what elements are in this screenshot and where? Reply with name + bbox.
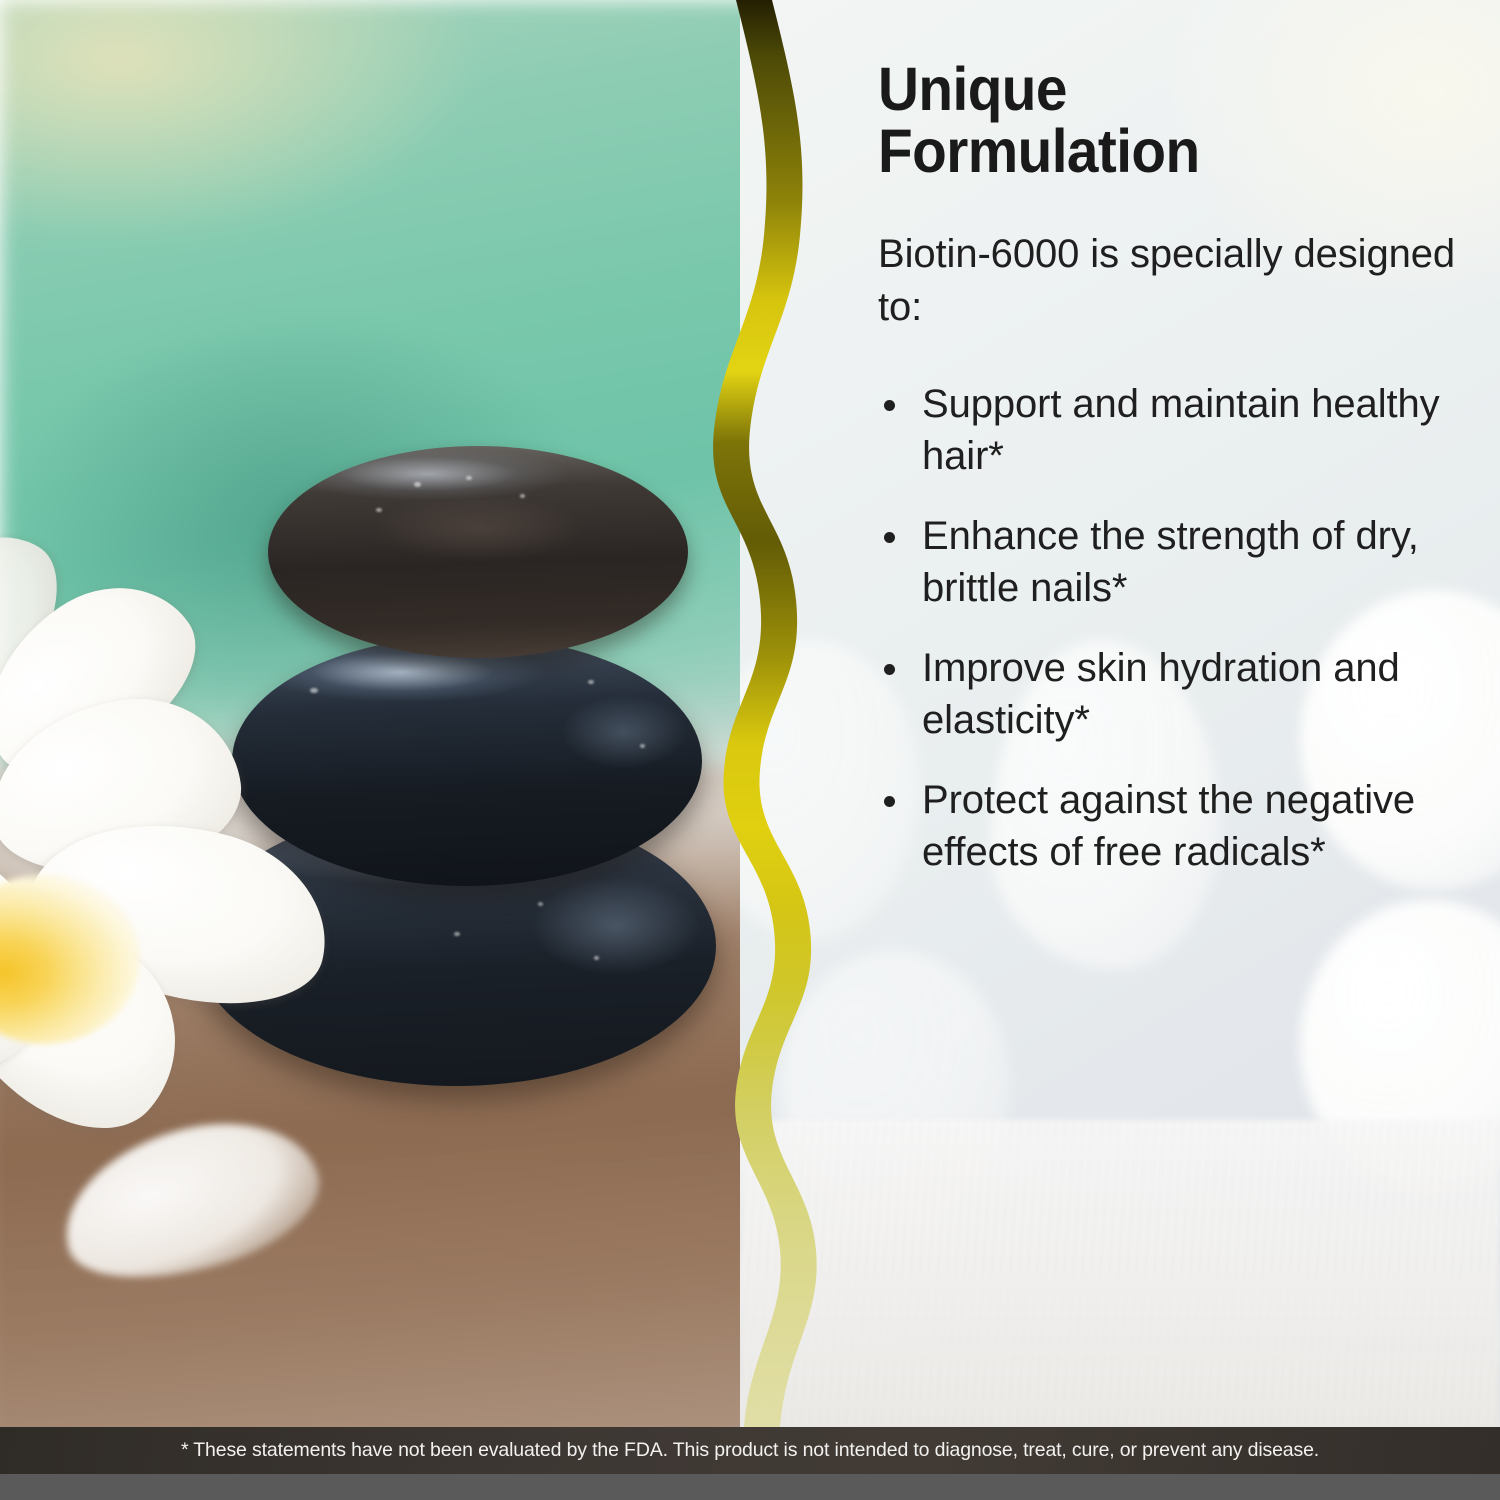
list-item: Support and maintain healthy hair* [878, 378, 1478, 482]
intro-text: Biotin-6000 is specially designed to: [878, 228, 1478, 334]
stone-highlight-dot [538, 902, 543, 906]
stone-highlight-dot [454, 932, 460, 936]
list-item: Protect against the negative effects of … [878, 774, 1478, 878]
list-item: Enhance the strength of dry, brittle nai… [878, 510, 1478, 614]
stone-highlight-dot [414, 482, 421, 487]
page-title: Unique Formulation [878, 58, 1436, 182]
ghost-wood-surface [740, 1120, 1500, 1427]
content-column: Unique Formulation Biotin-6000 is specia… [878, 0, 1478, 906]
footer-bottom-strip [0, 1474, 1500, 1500]
product-lifestyle-photo [0, 0, 790, 1427]
stone-highlight-dot [466, 476, 472, 480]
plumeria-flower [0, 596, 420, 1166]
stone-highlight-dot [594, 956, 599, 960]
text-panel: Unique Formulation Biotin-6000 is specia… [740, 0, 1500, 1427]
stone-highlight-dot [376, 508, 382, 512]
stone-highlight-dot [520, 494, 525, 498]
product-infographic: Unique Formulation Biotin-6000 is specia… [0, 0, 1500, 1500]
list-item: Improve skin hydration and elasticity* [878, 642, 1478, 746]
stone-highlight-dot [640, 744, 645, 748]
footer-disclaimer-bar: * These statements have not been evaluat… [0, 1427, 1500, 1474]
footer: * These statements have not been evaluat… [0, 1427, 1500, 1500]
benefits-list: Support and maintain healthy hair* Enhan… [878, 378, 1478, 878]
stone-highlight-dot [588, 680, 594, 684]
disclaimer-text: * These statements have not been evaluat… [181, 1439, 1319, 1462]
